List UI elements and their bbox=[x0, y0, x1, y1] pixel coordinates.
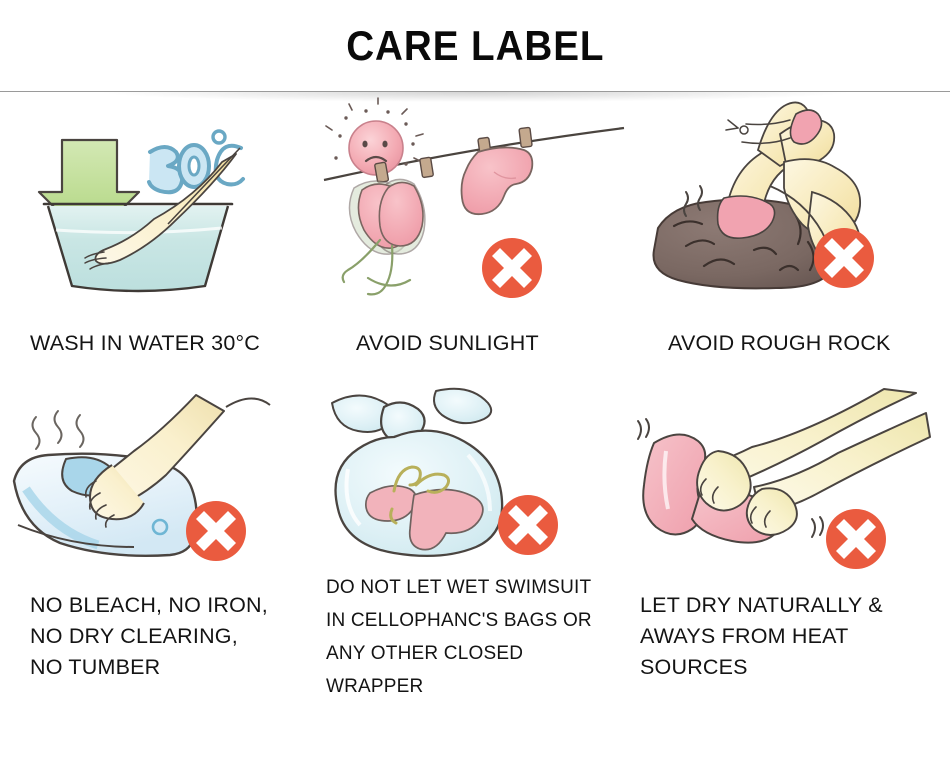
prohibition-badge-icon bbox=[814, 228, 874, 288]
care-item-wash-in-water: WASH IN WATER 30°C bbox=[0, 100, 318, 385]
prohibition-badge-icon bbox=[498, 495, 558, 555]
care-item-avoid-rough-rock: AVOID ROUGH ROCK bbox=[630, 100, 950, 385]
wash-basin-icon bbox=[0, 100, 318, 315]
care-item-caption: NO BLEACH, NO IRON, NO DRY CLEARING, NO … bbox=[30, 590, 312, 683]
sitting-on-rock-icon bbox=[630, 100, 950, 315]
plastic-bag-swimsuit-icon bbox=[318, 385, 630, 600]
care-item-caption: WASH IN WATER 30°C bbox=[30, 328, 312, 359]
care-item-caption: DO NOT LET WET SWIMSUIT IN CELLOPHANC'S … bbox=[326, 571, 624, 703]
care-instruction-grid: WASH IN WATER 30°C bbox=[0, 100, 950, 781]
care-item-no-closed-wrapper: DO NOT LET WET SWIMSUIT IN CELLOPHANC'S … bbox=[318, 385, 630, 781]
care-item-caption: AVOID SUNLIGHT bbox=[356, 328, 624, 359]
page-header: CARE LABEL bbox=[0, 0, 950, 91]
prohibition-badge-icon bbox=[482, 238, 542, 298]
wringing-swimsuit-icon bbox=[630, 385, 950, 600]
prohibition-badge-icon bbox=[826, 509, 886, 569]
steam-iron-icon bbox=[0, 385, 318, 600]
care-item-no-bleach-no-iron: NO BLEACH, NO IRON, NO DRY CLEARING, NO … bbox=[0, 385, 318, 781]
page-title: CARE LABEL bbox=[346, 22, 604, 70]
care-item-let-dry-naturally: LET DRY NATURALLY & AWAYS FROM HEAT SOUR… bbox=[630, 385, 950, 781]
care-item-caption: LET DRY NATURALLY & AWAYS FROM HEAT SOUR… bbox=[640, 590, 944, 683]
clothesline-sun-icon bbox=[318, 100, 630, 315]
prohibition-badge-icon bbox=[186, 501, 246, 561]
care-item-avoid-sunlight: AVOID SUNLIGHT bbox=[318, 100, 630, 385]
care-item-caption: AVOID ROUGH ROCK bbox=[668, 328, 944, 359]
